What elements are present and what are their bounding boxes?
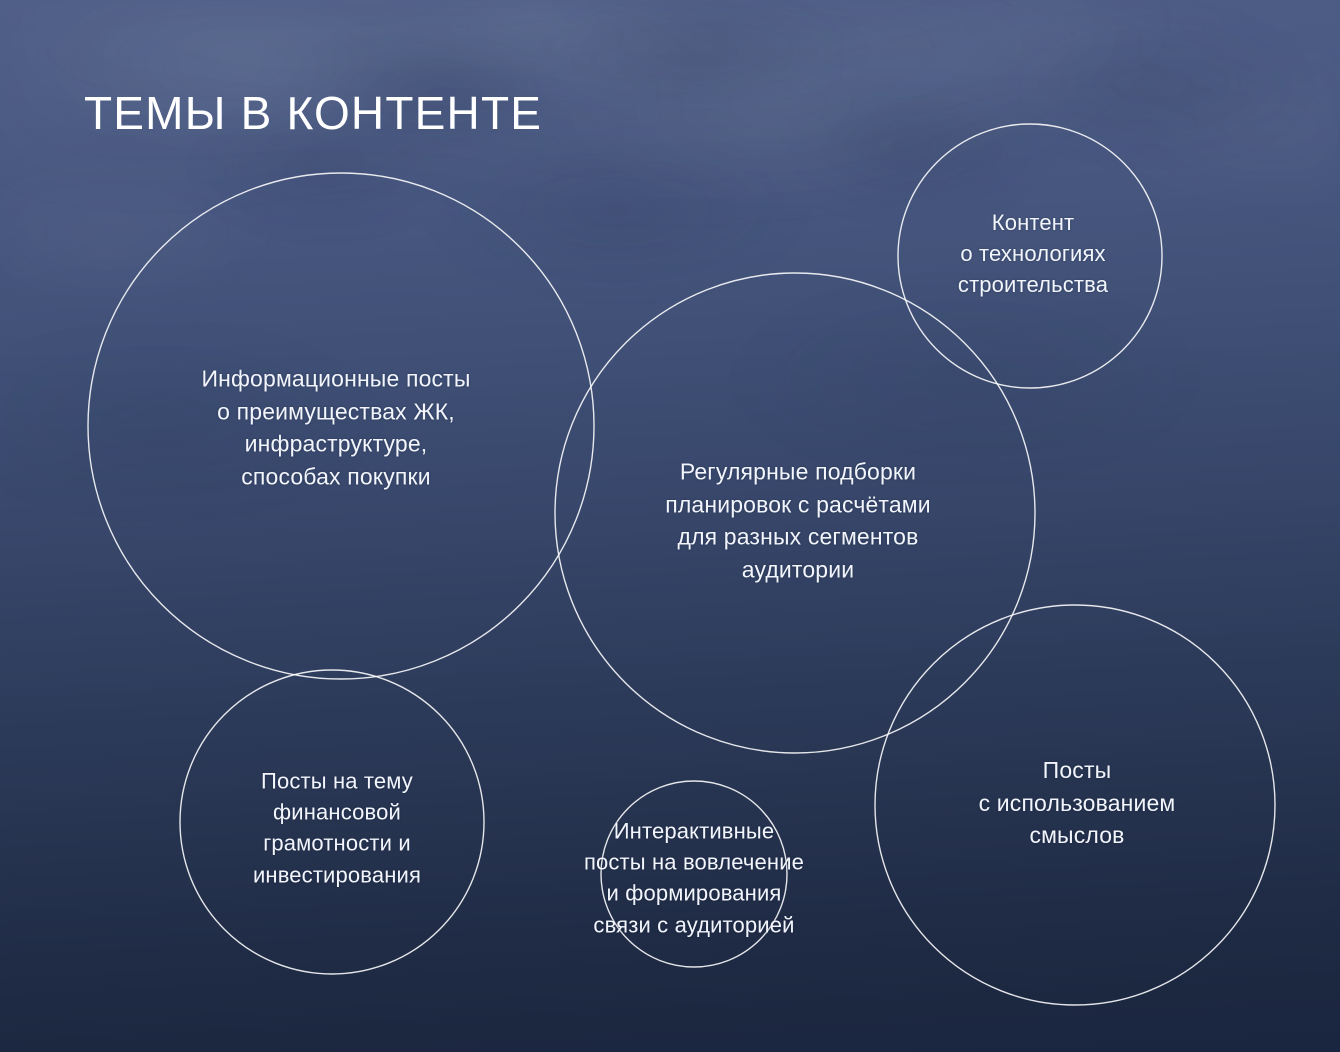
slide-canvas: ТЕМЫ В КОНТЕНТЕ Информационные посты о п… <box>0 0 1340 1052</box>
bubble-label-meaning-posts: Посты с использованием смыслов <box>979 754 1176 852</box>
bubble-label-regular-layouts: Регулярные подборки планировок с расчёта… <box>665 456 931 587</box>
bubble-label-interactive-posts: Интерактивные посты на вовлечение и форм… <box>584 816 804 941</box>
label-layer: ТЕМЫ В КОНТЕНТЕ Информационные посты о п… <box>0 0 1340 1052</box>
bubble-label-financial-literacy: Посты на тему финансовой грамотности и и… <box>253 766 421 891</box>
page-title: ТЕМЫ В КОНТЕНТЕ <box>84 88 542 139</box>
bubble-label-info-posts: Информационные посты о преимуществах ЖК,… <box>201 363 470 494</box>
bubble-label-construction-tech: Контент о технологиях строительства <box>958 207 1108 301</box>
